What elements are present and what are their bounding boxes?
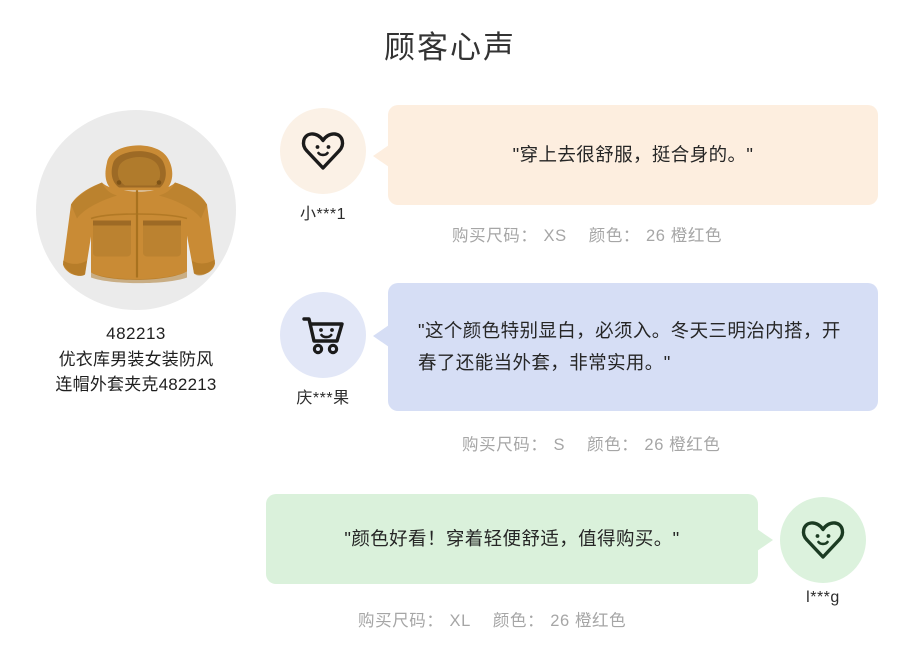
- product-code: 482213: [22, 324, 250, 344]
- product-name: 优衣库男装女装防风 连帽外套夹克482213: [22, 347, 250, 397]
- review-comment: "这个颜色特别显白，必须入。冬天三明治内搭，开春了还能当外套，非常实用。": [418, 315, 848, 379]
- reviewer-name: 庆***果: [268, 384, 378, 408]
- avatar: [780, 497, 866, 583]
- avatar: [280, 292, 366, 378]
- color-value: 26 橙红色: [550, 612, 626, 630]
- size-value: XS: [544, 227, 567, 245]
- review-comment: "颜色好看！穿着轻便舒适，值得购买。": [292, 523, 732, 555]
- review-meta-3: 购买尺码：XL颜色：26 橙红色: [358, 607, 626, 631]
- heart-smile-icon: [300, 130, 346, 172]
- reviewer-name: 小***1: [268, 200, 378, 224]
- review-meta-2: 购买尺码：S颜色：26 橙红色: [462, 431, 720, 455]
- color-label: 颜色：: [587, 436, 638, 454]
- product-name-line-1: 优衣库男装女装防风: [22, 347, 250, 372]
- jacket-photo: [47, 133, 225, 288]
- heart-smile-icon: [800, 519, 846, 561]
- size-value: S: [554, 436, 566, 454]
- review-bubble-2: "这个颜色特别显白，必须入。冬天三明治内搭，开春了还能当外套，非常实用。": [388, 283, 878, 411]
- review-avatar-block-1: 小***1: [268, 108, 378, 224]
- review-avatar-block-3: l***g: [768, 497, 878, 607]
- size-label: 购买尺码：: [358, 612, 444, 630]
- review-meta-1: 购买尺码：XS颜色：26 橙红色: [452, 222, 722, 246]
- size-label: 购买尺码：: [462, 436, 548, 454]
- product-image-circle: [36, 110, 236, 310]
- bubble-tail: [373, 145, 389, 167]
- avatar: [280, 108, 366, 194]
- page-title: 顾客心声: [0, 22, 900, 67]
- shopping-cart-smile-icon: [299, 313, 347, 357]
- review-bubble-3: "颜色好看！穿着轻便舒适，值得购买。": [266, 494, 758, 584]
- color-label: 颜色：: [589, 227, 640, 245]
- review-avatar-block-2: 庆***果: [268, 292, 378, 408]
- size-label: 购买尺码：: [452, 227, 538, 245]
- color-value: 26 橙红色: [646, 227, 722, 245]
- size-value: XL: [450, 612, 471, 630]
- reviewer-name: l***g: [768, 589, 878, 607]
- color-label: 颜色：: [493, 612, 544, 630]
- review-comment: "穿上去很舒服，挺合身的。": [414, 139, 852, 171]
- review-bubble-1: "穿上去很舒服，挺合身的。": [388, 105, 878, 205]
- bubble-tail: [373, 325, 389, 347]
- product-panel: 482213 优衣库男装女装防风 连帽外套夹克482213: [22, 110, 250, 397]
- product-name-line-2: 连帽外套夹克482213: [22, 372, 250, 397]
- color-value: 26 橙红色: [644, 436, 720, 454]
